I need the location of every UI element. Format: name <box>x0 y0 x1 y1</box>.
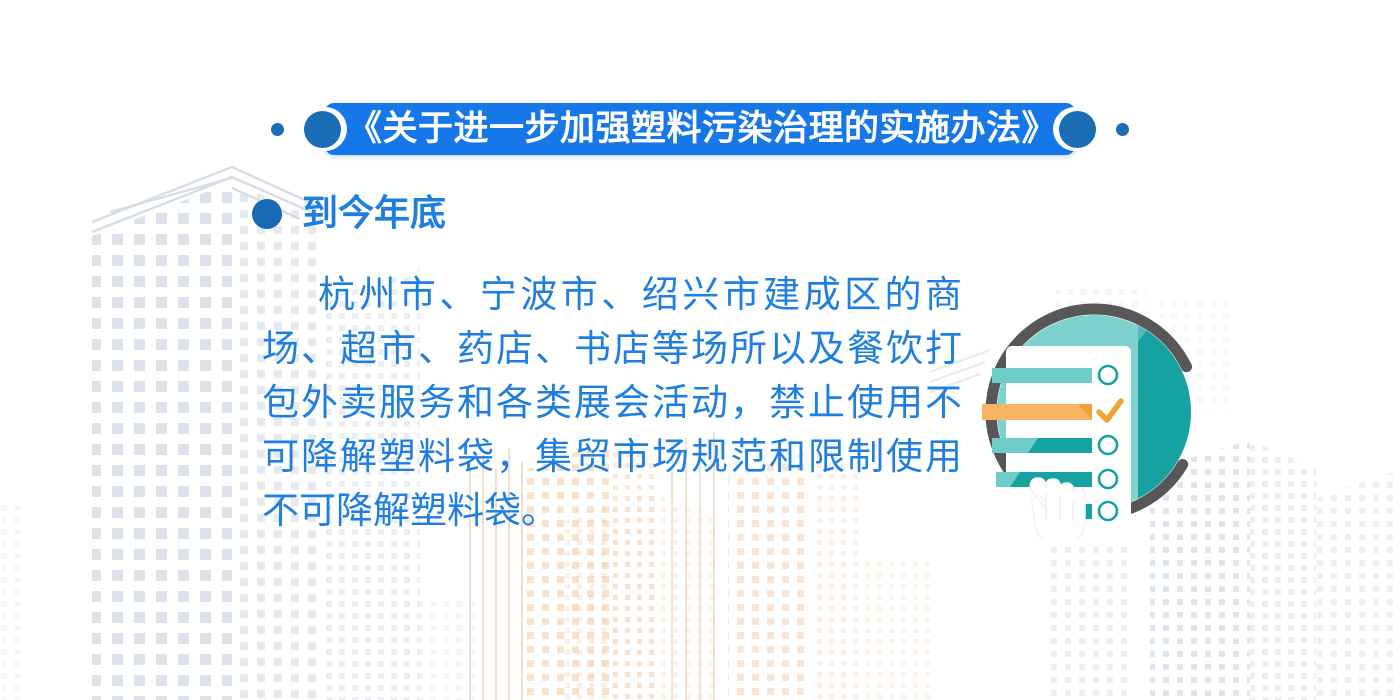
checklist-bar-1 <box>992 368 1092 383</box>
subtitle-label: 到今年底 <box>302 196 446 232</box>
subtitle-row: 到今年底 <box>252 196 446 232</box>
banner-plate: 《关于进一步加强塑料污染治理的实施办法》 <box>325 103 1075 155</box>
large-dot-icon-right <box>1059 111 1096 148</box>
body-paragraph: 杭州市、宁波市、绍兴市建成区的商场、超市、药店、书店等场所以及餐饮打包外卖服务和… <box>262 268 962 538</box>
page-title: 《关于进一步加强塑料污染治理的实施办法》 <box>347 112 1057 147</box>
checklist-bar-2 <box>982 404 1092 420</box>
banner-row: 《关于进一步加强塑料污染治理的实施办法》 <box>271 103 1129 155</box>
small-dot-icon-left <box>271 123 284 136</box>
bullet-dot-icon <box>252 199 282 229</box>
checklist-badge <box>968 288 1220 540</box>
poster-canvas: 《关于进一步加强塑料污染治理的实施办法》 到今年底 杭州市、宁波市、绍兴市建成区… <box>0 0 1400 700</box>
small-dot-icon-right <box>1116 123 1129 136</box>
title-banner: 《关于进一步加强塑料污染治理的实施办法》 <box>0 96 1400 162</box>
large-dot-icon-left <box>304 111 341 148</box>
